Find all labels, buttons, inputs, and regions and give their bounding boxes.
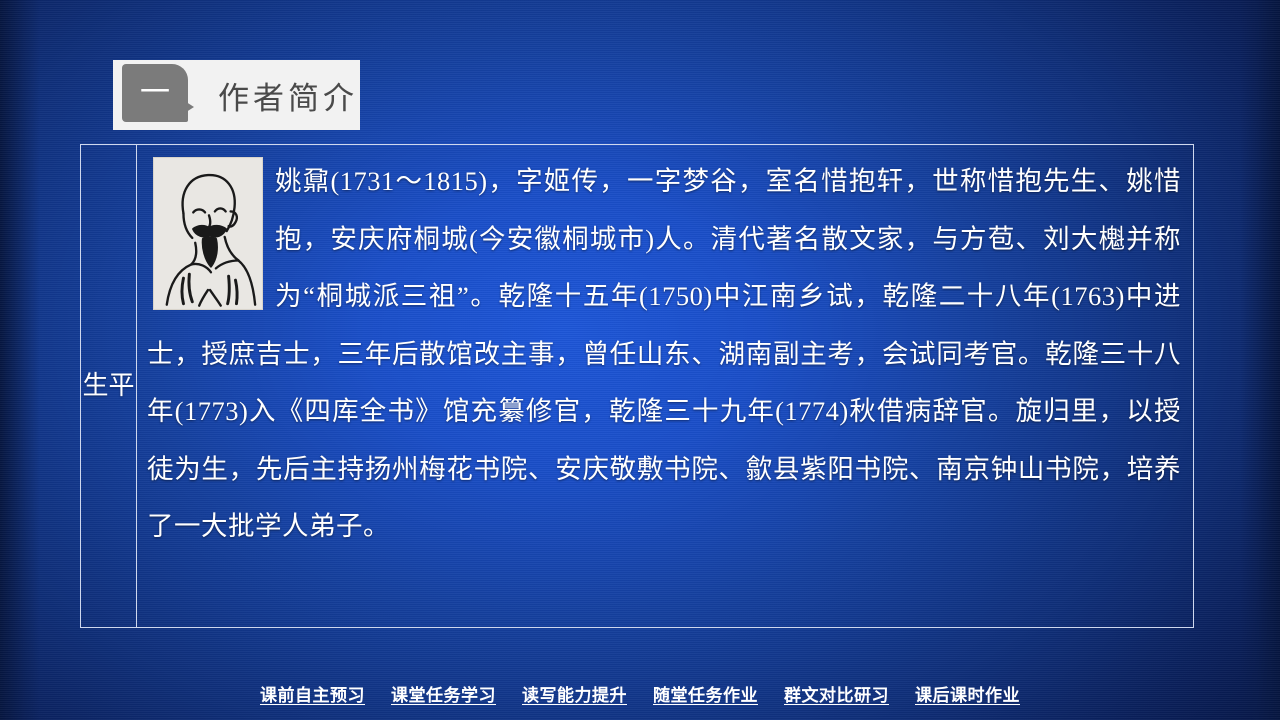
section-number: 一 — [122, 64, 188, 122]
nav-item-group-text-comparison[interactable]: 群文对比研习 — [784, 681, 889, 706]
biography-table: 生平 — [80, 144, 1194, 628]
section-header-badge: 一 作者简介 — [113, 60, 360, 130]
section-title: 作者简介 — [218, 73, 358, 118]
nav-item-after-class-homework[interactable]: 课后课时作业 — [915, 681, 1020, 706]
bottom-navigation: 课前自主预习 课堂任务学习 读写能力提升 随堂任务作业 群文对比研习 课后课时作… — [0, 681, 1280, 706]
slide-left-edge-shading — [0, 0, 40, 720]
row-label-shengping: 生平 — [81, 145, 137, 627]
biography-text: 姚鼐(1731～1815)，字姬传，一字梦谷，室名惜抱轩，世称惜抱先生、姚惜抱，… — [147, 153, 1181, 556]
portrait-illustration-icon — [153, 157, 263, 310]
slide-canvas: 一 作者简介 生平 — [0, 0, 1280, 720]
nav-item-classroom-task[interactable]: 课堂任务学习 — [391, 681, 496, 706]
nav-item-preview[interactable]: 课前自主预习 — [260, 681, 365, 706]
nav-item-reading-writing[interactable]: 读写能力提升 — [522, 681, 627, 706]
slide-right-edge-shading — [1240, 0, 1280, 720]
speech-bubble-icon: 一 — [122, 64, 194, 126]
biography-cell: 姚鼐(1731～1815)，字姬传，一字梦谷，室名惜抱轩，世称惜抱先生、姚惜抱，… — [137, 145, 1193, 627]
nav-item-in-class-homework[interactable]: 随堂任务作业 — [653, 681, 758, 706]
